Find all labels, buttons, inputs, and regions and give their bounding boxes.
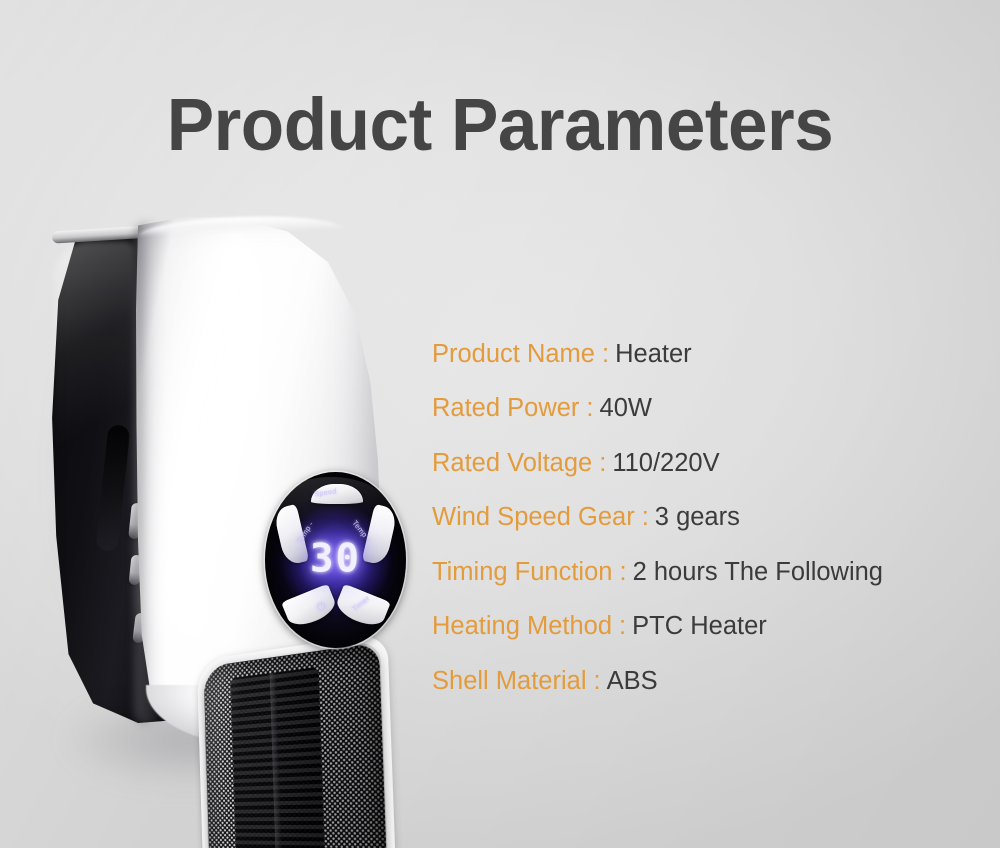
shell-highlight [158, 233, 268, 653]
spec-row-wind-speed-gear: Wind Speed Gear : 3 gears [432, 491, 977, 546]
spec-row-shell-material: Shell Material : ABS [432, 654, 977, 709]
product-image-canvas: Product Parameters [0, 0, 1000, 848]
spec-separator: : [586, 669, 606, 695]
spec-row-timing-function: Timing Function : 2 hours The Following [432, 545, 977, 600]
spec-separator: : [635, 505, 655, 531]
spec-row-rated-power: Rated Power : 40W [432, 382, 977, 437]
spec-value: 2 hours The Following [633, 560, 883, 586]
spec-separator: : [612, 560, 632, 586]
spec-value: 3 gears [655, 505, 740, 531]
spec-label: Rated Power [432, 396, 579, 422]
spec-value: 110/220V [612, 451, 719, 477]
spec-label: Rated Voltage [432, 451, 592, 477]
led-display-reading: 30 [310, 540, 361, 579]
spec-value: Heater [615, 342, 692, 368]
spec-label: Wind Speed Gear [432, 505, 635, 531]
power-button[interactable] [281, 584, 339, 631]
spec-row-product-name: Product Name : Heater [432, 327, 977, 382]
spec-separator: : [612, 614, 632, 640]
control-panel[interactable]: Speed Temp - Temp + ⏻ Timer 30 [265, 472, 406, 648]
spec-row-rated-voltage: Rated Voltage : 110/220V [432, 436, 977, 491]
spec-separator: : [592, 451, 612, 477]
spec-label: Product Name [432, 342, 595, 368]
spec-row-heating-method: Heating Method : PTC Heater [432, 600, 977, 655]
product-parameters-list: Product Name : Heater Rated Power : 40W … [432, 327, 977, 709]
spec-label: Heating Method [432, 614, 612, 640]
spec-value: 40W [600, 396, 652, 422]
spec-value: ABS [607, 669, 658, 695]
page-title: Product Parameters [20, 88, 980, 162]
spec-label: Shell Material [432, 669, 586, 695]
spec-label: Timing Function [432, 560, 612, 586]
spec-separator: : [579, 396, 599, 422]
spec-value: PTC Heater [632, 614, 767, 640]
spec-separator: : [595, 342, 615, 368]
timer-button[interactable] [333, 584, 391, 631]
front-honeycomb-grille [203, 642, 388, 848]
grille-shading [203, 642, 388, 848]
product-heater-illustration: Speed Temp - Temp + ⏻ Timer 30 [38, 215, 388, 745]
